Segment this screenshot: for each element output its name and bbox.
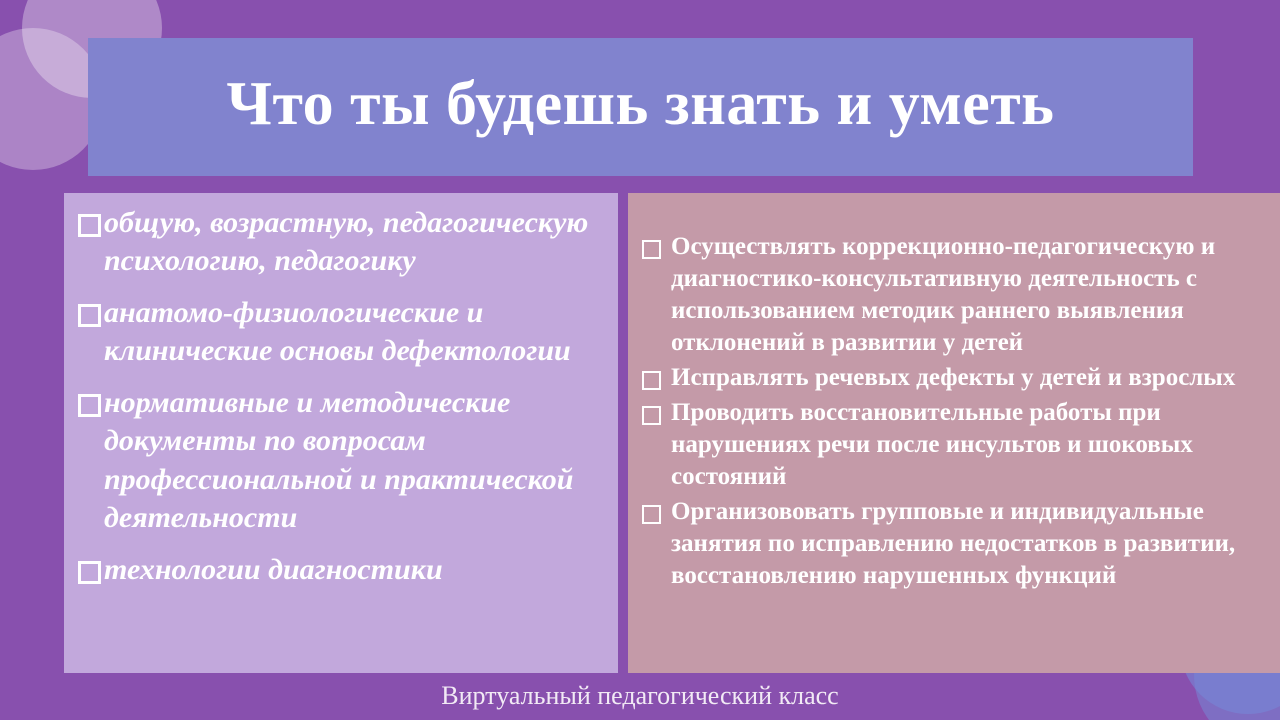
hollow-square-bullet-icon [78,394,101,417]
footer-caption: Виртуальный педагогический класс [0,680,1280,711]
list-item-label: нормативные и методические документы по … [104,384,608,536]
list-item-label: общую, возрастную, педагогическую психол… [104,204,608,280]
hollow-square-bullet-icon [642,406,661,425]
list-item: нормативные и методические документы по … [78,384,608,536]
list-item-label: Организововать групповые и индивидуальны… [671,496,1266,592]
list-item: технологии диагностики [78,551,608,589]
knowledge-panel: общую, возрастную, педагогическую психол… [64,193,618,673]
list-item-label: Исправлять речевых дефекты у детей и взр… [671,362,1266,394]
list-item: общую, возрастную, педагогическую психол… [78,204,608,280]
list-item: Исправлять речевых дефекты у детей и взр… [638,362,1266,394]
hollow-square-bullet-icon [78,561,101,584]
hollow-square-bullet-icon [78,214,101,237]
skills-list: Осуществлять коррекционно-педагогическую… [638,231,1266,592]
hollow-square-bullet-icon [642,240,661,259]
list-item-label: анатомо-физиологические и клинические ос… [104,294,608,370]
list-item: анатомо-физиологические и клинические ос… [78,294,608,370]
knowledge-list: общую, возрастную, педагогическую психол… [78,204,608,589]
skills-panel: Осуществлять коррекционно-педагогическую… [628,193,1280,673]
list-item-label: Осуществлять коррекционно-педагогическую… [671,231,1266,359]
list-item: Организововать групповые и индивидуальны… [638,496,1266,592]
title-banner: Что ты будешь знать и уметь [88,38,1193,176]
presentation-slide: Что ты будешь знать и уметь общую, возра… [0,0,1280,720]
hollow-square-bullet-icon [78,304,101,327]
list-item: Проводить восстановительные работы при н… [638,397,1266,493]
list-item: Осуществлять коррекционно-педагогическую… [638,231,1266,359]
hollow-square-bullet-icon [642,505,661,524]
list-item-label: Проводить восстановительные работы при н… [671,397,1266,493]
slide-title: Что ты будешь знать и уметь [227,72,1055,141]
list-item-label: технологии диагностики [104,551,608,589]
hollow-square-bullet-icon [642,371,661,390]
